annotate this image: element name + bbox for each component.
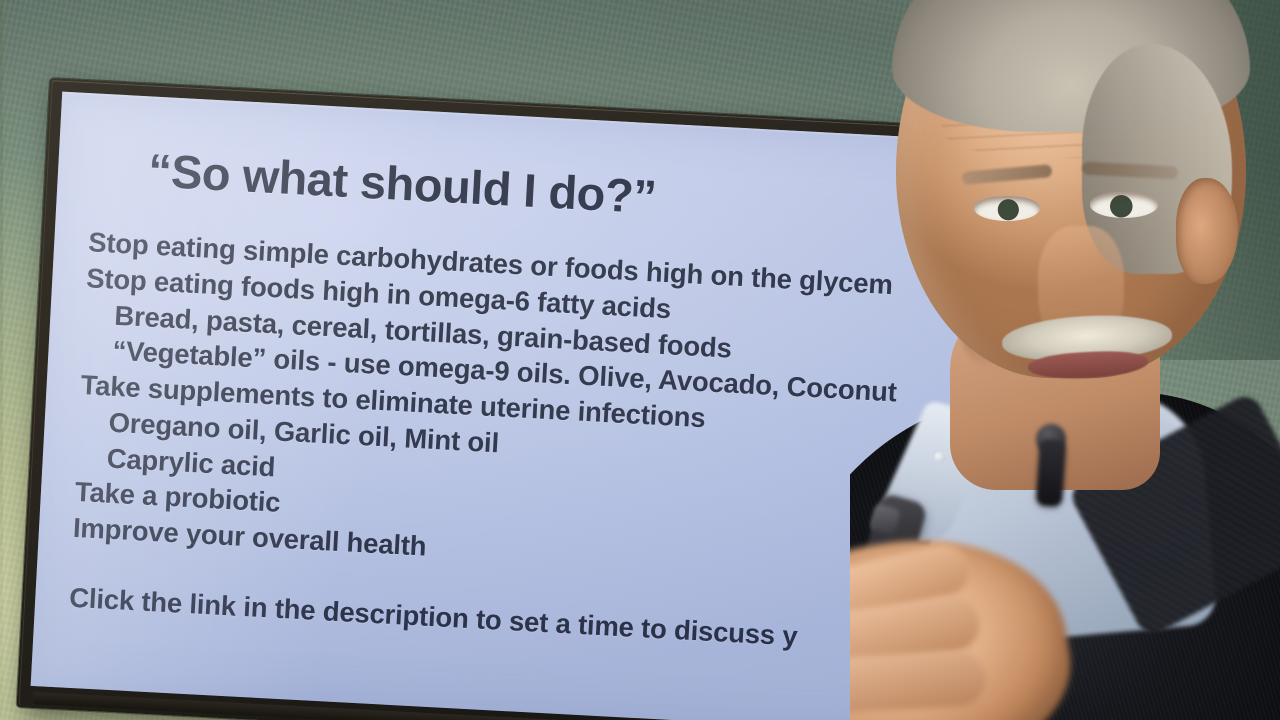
eye-right xyxy=(1090,192,1158,218)
video-frame: “So what should I do?” Stop eating simpl… xyxy=(0,0,1280,720)
ear xyxy=(1176,178,1238,284)
shirt-button xyxy=(934,452,945,463)
lapel-microphone xyxy=(1036,439,1067,507)
eye-left xyxy=(974,196,1040,221)
presenter xyxy=(850,0,1280,720)
wall-seam xyxy=(0,0,3,720)
finger xyxy=(850,649,987,714)
